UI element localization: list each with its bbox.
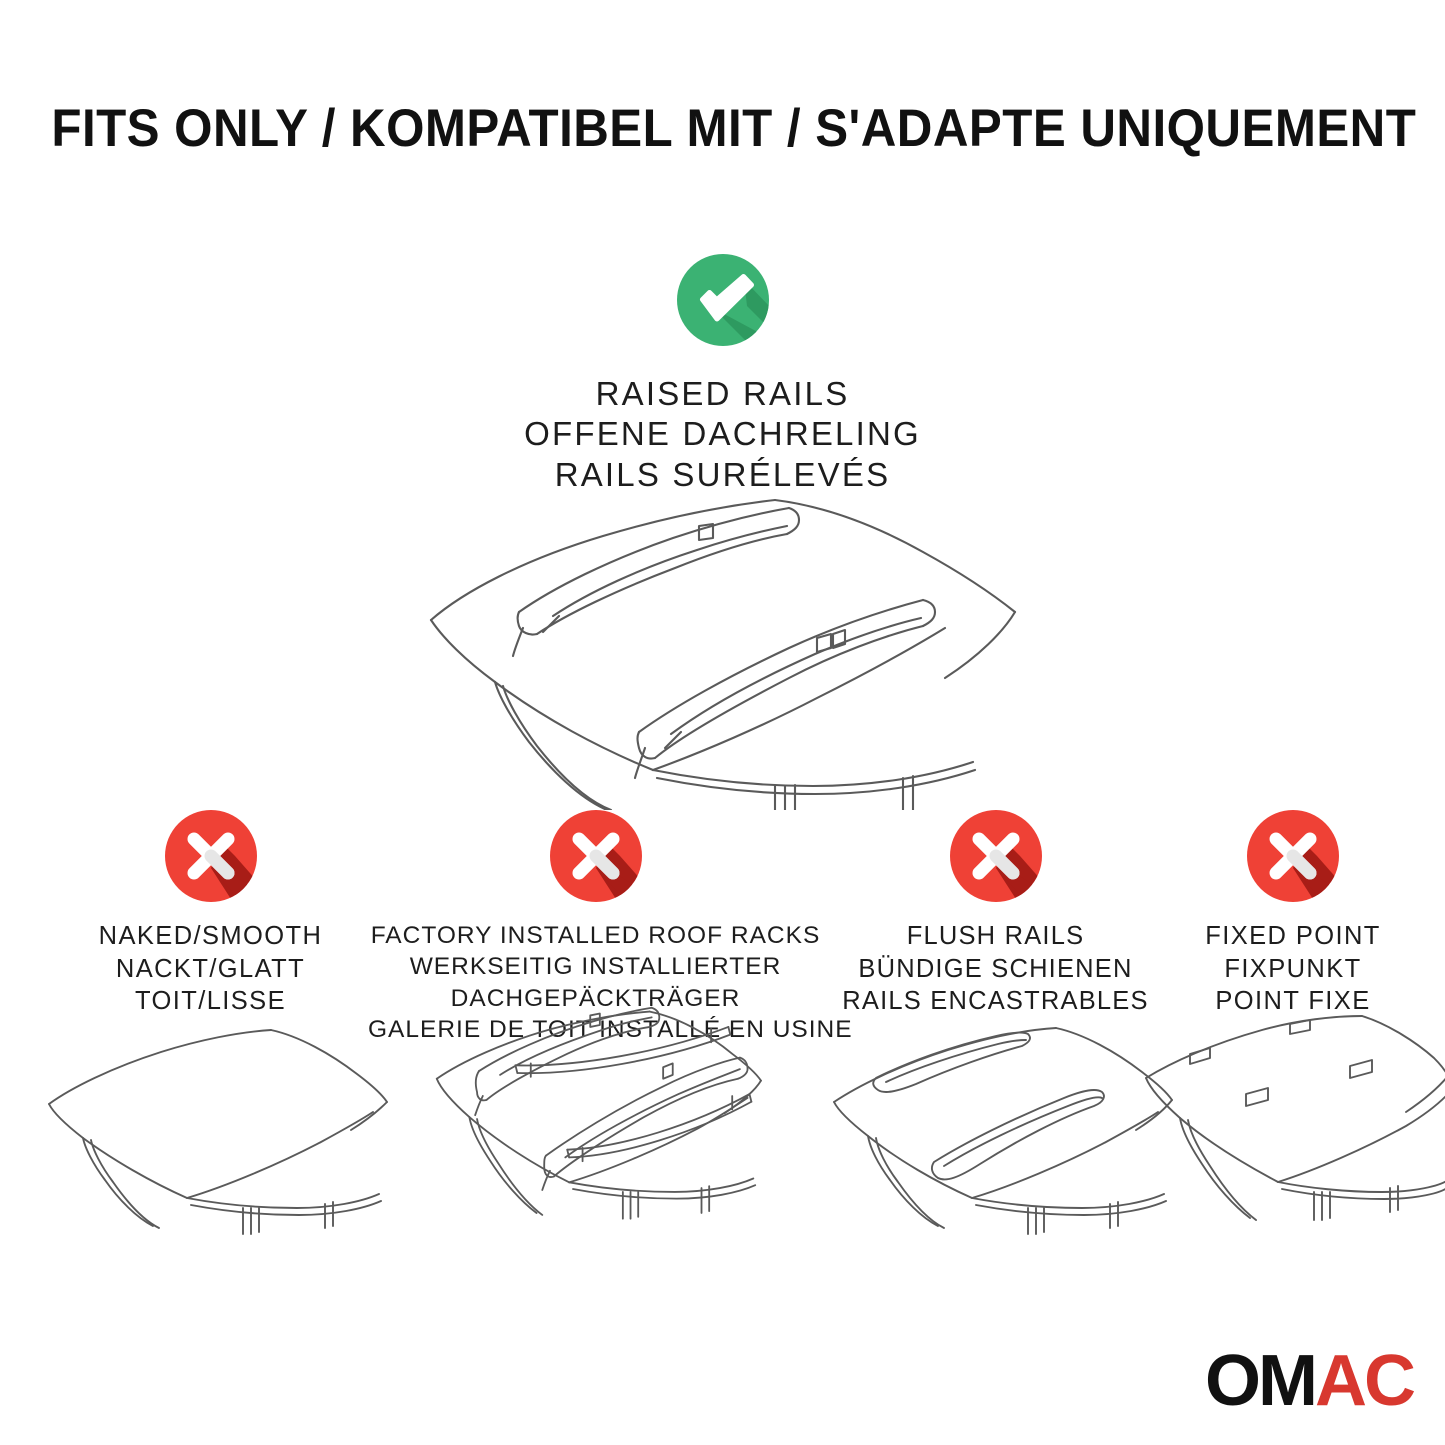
compatible-label-en: RAISED RAILS [0,374,1445,414]
label-en: FACTORY INSTALLED ROOF RACKS [368,920,823,951]
compatible-label-de: OFFENE DACHRELING [0,414,1445,454]
logo-text-red: AC [1315,1345,1413,1417]
page-title-text: FITS ONLY / KOMPATIBEL MIT / S'ADAPTE UN… [51,98,1416,159]
green-check-icon [673,250,773,350]
compatible-labels: RAISED RAILS OFFENE DACHRELING RAILS SUR… [0,374,1445,495]
car-roof-fixed-points-illustration [1138,1012,1445,1247]
red-x-icon [1243,806,1343,906]
label-de: FIXPUNKT [1168,953,1418,986]
incompatible-labels: FLUSH RAILS BÜNDIGE SCHIENEN RAILS ENCAS… [828,920,1163,1018]
incompatible-item-fixed-point: FIXED POINT FIXPUNKT POINT FIXE [1168,806,1418,1018]
incompatible-item-naked-smooth: NAKED/SMOOTH NACKT/GLATT TOIT/LISSE [28,806,393,1018]
compatible-section: RAISED RAILS OFFENE DACHRELING RAILS SUR… [0,250,1445,495]
incompatible-labels: FIXED POINT FIXPUNKT POINT FIXE [1168,920,1418,1018]
label-en: FLUSH RAILS [828,920,1163,953]
page-title: FITS ONLY / KOMPATIBEL MIT / S'ADAPTE UN… [0,98,1445,159]
red-x-icon [946,806,1046,906]
incompatible-item-factory-roof-racks: FACTORY INSTALLED ROOF RACKS WERKSEITIG … [368,806,823,1045]
incompatible-labels: NAKED/SMOOTH NACKT/GLATT TOIT/LISSE [28,920,393,1018]
car-roof-flush-rails-illustration [816,1012,1176,1247]
label-en: NAKED/SMOOTH [28,920,393,953]
label-en: FIXED POINT [1168,920,1418,953]
logo-text-dark: OM [1205,1345,1315,1417]
car-roof-raised-rails-illustration [403,480,1043,810]
incompatible-section: NAKED/SMOOTH NACKT/GLATT TOIT/LISSE [0,806,1445,1326]
car-roof-factory-crossbars-illustration [416,1002,776,1237]
red-x-icon [546,806,646,906]
omac-logo: OMAC [1205,1345,1413,1417]
red-x-icon [161,806,261,906]
label-de: BÜNDIGE SCHIENEN [828,953,1163,986]
label-de: NACKT/GLATT [28,953,393,986]
car-roof-bare-illustration [31,1012,391,1247]
label-de-1: WERKSEITIG INSTALLIERTER [368,951,823,982]
incompatible-item-flush-rails: FLUSH RAILS BÜNDIGE SCHIENEN RAILS ENCAS… [828,806,1163,1018]
